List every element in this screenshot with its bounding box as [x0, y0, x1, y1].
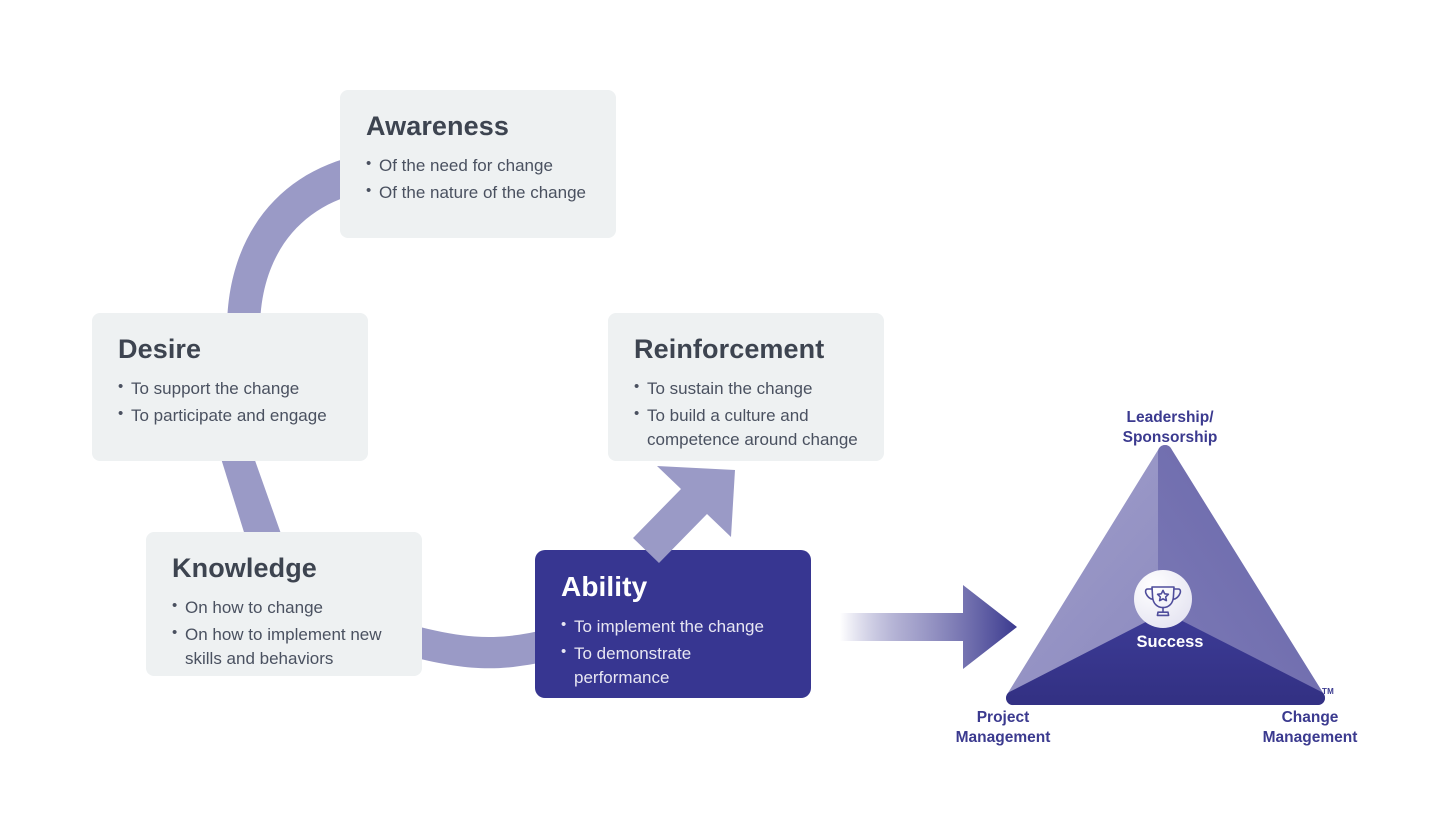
- card-desire-title: Desire: [118, 335, 342, 365]
- card-ability-title: Ability: [561, 572, 785, 603]
- triangle-facets: [930, 395, 1400, 755]
- list-item: To support the change: [118, 377, 342, 401]
- card-awareness[interactable]: Awareness Of the need for change Of the …: [340, 90, 616, 238]
- card-awareness-bullets: Of the need for change Of the nature of …: [366, 154, 590, 205]
- triangle-label-change-management: Change Management: [1215, 708, 1405, 748]
- list-item: Of the need for change: [366, 154, 590, 178]
- list-item: To implement the change: [561, 615, 785, 639]
- card-reinforcement[interactable]: Reinforcement To sustain the change To b…: [608, 313, 884, 461]
- success-triangle[interactable]: Leadership/ Sponsorship Project Manageme…: [930, 395, 1400, 755]
- card-reinforcement-title: Reinforcement: [634, 335, 858, 365]
- triangle-label-project-management: Project Management: [908, 708, 1098, 748]
- list-item: Of the nature of the change: [366, 181, 590, 205]
- list-item: To build a culture and competence around…: [634, 404, 858, 452]
- list-item: To demonstrate performance: [561, 642, 785, 690]
- card-ability-bullets: To implement the change To demonstrate p…: [561, 615, 785, 690]
- card-awareness-title: Awareness: [366, 112, 590, 142]
- triangle-label-success: Success: [1085, 633, 1255, 652]
- diagram-canvas: Awareness Of the need for change Of the …: [0, 0, 1453, 837]
- card-knowledge-title: Knowledge: [172, 554, 396, 584]
- list-item: On how to change: [172, 596, 396, 620]
- connector-knowledge-to-ability: [412, 625, 552, 668]
- list-item: To participate and engage: [118, 404, 342, 428]
- card-ability[interactable]: Ability To implement the change To demon…: [535, 550, 811, 698]
- card-knowledge-bullets: On how to change On how to implement new…: [172, 596, 396, 671]
- card-desire-bullets: To support the change To participate and…: [118, 377, 342, 428]
- list-item: On how to implement new skills and behav…: [172, 623, 396, 671]
- triangle-label-leadership: Leadership/ Sponsorship: [1085, 408, 1255, 448]
- trademark-mark: TM: [1322, 687, 1334, 696]
- card-desire[interactable]: Desire To support the change To particip…: [92, 313, 368, 461]
- card-knowledge[interactable]: Knowledge On how to change On how to imp…: [146, 532, 422, 676]
- card-reinforcement-bullets: To sustain the change To build a culture…: [634, 377, 858, 452]
- list-item: To sustain the change: [634, 377, 858, 401]
